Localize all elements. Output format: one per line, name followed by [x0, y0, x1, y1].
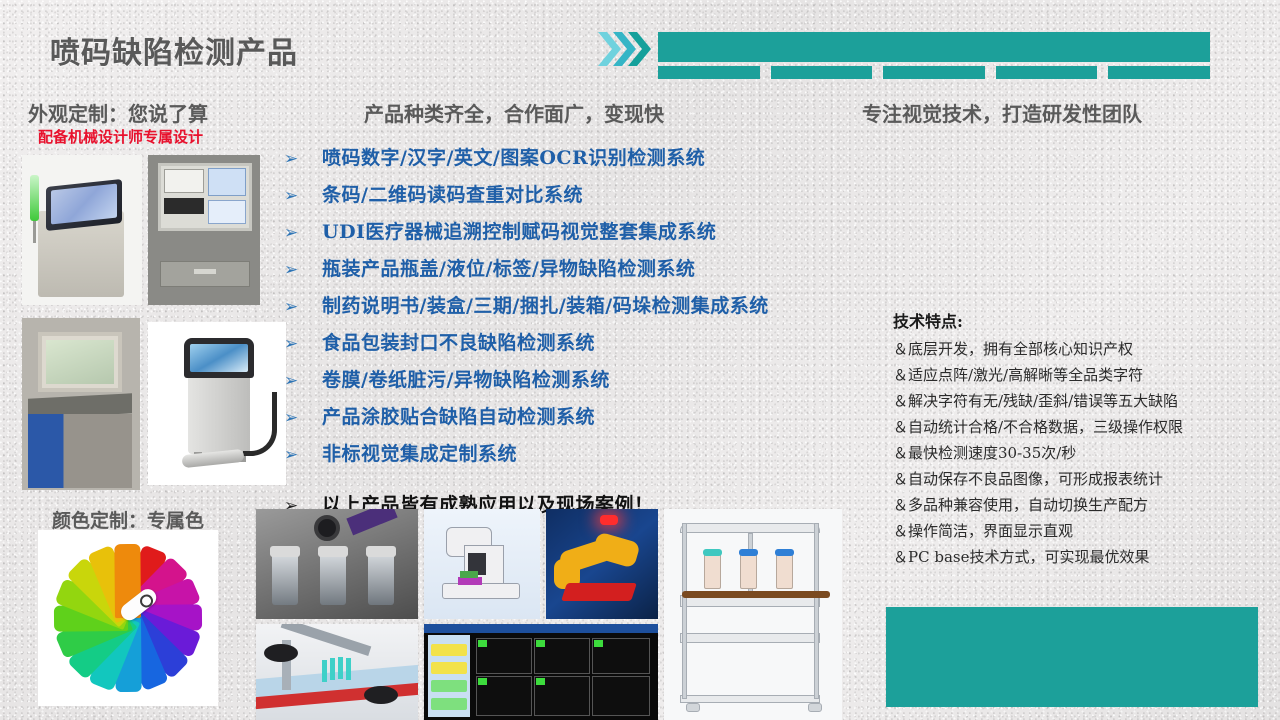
arrow-bullet-icon: ➢	[284, 188, 322, 205]
red-light-icon	[600, 515, 618, 525]
control-cabinet-with-monitor-photo	[148, 155, 260, 305]
list-item: ➢ 卷膜/卷纸脏污/异物缺陷检测系统	[284, 365, 924, 402]
heading-product-variety: 产品种类齐全，合作面广，变现快	[364, 98, 664, 127]
arrow-bullet-icon: ➢	[284, 373, 322, 390]
arrow-bullet-icon: ➢	[284, 151, 322, 168]
technical-feature-line: ＆自动统计合格/不合格数据，三级操作权限	[893, 414, 1278, 440]
list-item: ➢ 非标视觉集成定制系统	[284, 439, 924, 476]
technical-feature-line: ＆多品种兼容使用，自动切换生产配方	[893, 492, 1278, 518]
slide-canvas: 喷码缺陷检测产品 外观定制：您说了算 配备机械设计师专属设计 产品种类齐全，合作…	[0, 0, 1280, 720]
teal-placeholder-box	[886, 607, 1258, 707]
arrow-bullet-icon: ➢	[284, 225, 322, 242]
banner-segment	[1108, 66, 1210, 79]
heading-color-customization: 颜色定制：专属色	[52, 506, 204, 533]
banner-segment	[996, 66, 1098, 79]
arrow-bullet-icon: ➢	[284, 299, 322, 316]
chevron-triple-icon	[598, 30, 658, 68]
arrow-bullet-icon: ➢	[284, 410, 322, 427]
continuous-inkjet-printer-photo	[148, 322, 286, 485]
arrow-bullet-icon: ➢	[284, 447, 322, 464]
product-label: 食品包装封口不良缺陷检测系统	[322, 328, 595, 355]
header-banner-segments	[658, 66, 1210, 79]
kiosk-touchscreen-station-photo	[22, 155, 142, 305]
technical-feature-line: ＆适应点阵/激光/高解晰等全品类字符	[893, 362, 1278, 388]
technical-features-block: 技术特点: ＆底层开发，拥有全部核心知识产权 ＆适应点阵/激光/高解晰等全品类字…	[893, 308, 1278, 570]
product-label: 条码/二维码读码查重对比系统	[322, 180, 583, 207]
product-label: 瓶装产品瓶盖/液位/标签/异物缺陷检测系统	[322, 254, 695, 281]
vial-inspection-closeup-photo	[256, 509, 418, 619]
technical-feature-line: ＆操作简洁，界面显示直观	[893, 518, 1278, 544]
technical-feature-line: ＆解决字符有无/残缺/歪斜/错误等五大缺陷	[893, 388, 1278, 414]
heading-vision-technology: 专注视觉技术，打造研发性团队	[862, 98, 1142, 127]
banner-segment	[883, 66, 985, 79]
technical-feature-line: ＆PC base技术方式，可实现最优效果	[893, 544, 1278, 570]
color-wheel	[52, 542, 204, 694]
banner-segment	[771, 66, 873, 79]
bottle-inspection-machine-cad-photo	[664, 509, 842, 720]
product-label: UDI医疗器械追溯控制赋码视觉整套集成系统	[322, 217, 716, 244]
subheading-mechanical-designer: 配备机械设计师专属设计	[38, 126, 203, 147]
cad-inspection-fixture-photo	[424, 509, 540, 619]
list-item: ➢ 喷码数字/汉字/英文/图案OCR识别检测系统	[284, 143, 924, 180]
product-label: 非标视觉集成定制系统	[322, 439, 517, 466]
page-title: 喷码缺陷检测产品	[50, 28, 298, 72]
header-banner-bar	[658, 32, 1210, 62]
arrow-bullet-icon: ➢	[284, 336, 322, 353]
conveyor-cad-layout-photo	[256, 624, 418, 720]
color-swatch-fan-photo	[38, 530, 218, 706]
product-label: 卷膜/卷纸脏污/异物缺陷检测系统	[322, 365, 610, 392]
product-list: ➢ 喷码数字/汉字/英文/图案OCR识别检测系统 ➢ 条码/二维码读码查重对比系…	[284, 143, 924, 527]
list-item: ➢ UDI医疗器械追溯控制赋码视觉整套集成系统	[284, 217, 924, 254]
list-item: ➢ 食品包装封口不良缺陷检测系统	[284, 328, 924, 365]
list-item: ➢ 制药说明书/装盒/三期/捆扎/装箱/码垛检测集成系统	[284, 291, 924, 328]
technical-features-title: 技术特点:	[893, 308, 1278, 332]
technical-feature-line: ＆自动保存不良品图像，可形成报表统计	[893, 466, 1278, 492]
arrow-bullet-icon: ➢	[284, 262, 322, 279]
product-label: 产品涂胶贴合缺陷自动检测系统	[322, 402, 595, 429]
list-item: ➢ 条码/二维码读码查重对比系统	[284, 180, 924, 217]
product-label: 制药说明书/装盒/三期/捆扎/装箱/码垛检测集成系统	[322, 291, 769, 318]
heading-appearance-customization: 外观定制：您说了算	[28, 98, 208, 127]
list-item: ➢ 产品涂胶贴合缺陷自动检测系统	[284, 402, 924, 439]
list-item: ➢ 瓶装产品瓶盖/液位/标签/异物缺陷检测系统	[284, 254, 924, 291]
blue-inspection-machine-photo	[22, 318, 140, 490]
technical-feature-line: ＆底层开发，拥有全部核心知识产权	[893, 336, 1278, 362]
banner-segment	[658, 66, 760, 79]
robot-arm-vision-cell-photo	[546, 509, 658, 619]
technical-feature-line: ＆最快检测速度30-35次/秒	[893, 440, 1278, 466]
product-label: 喷码数字/汉字/英文/图案OCR识别检测系统	[322, 143, 705, 170]
hmi-multi-camera-screen-photo	[424, 624, 658, 720]
